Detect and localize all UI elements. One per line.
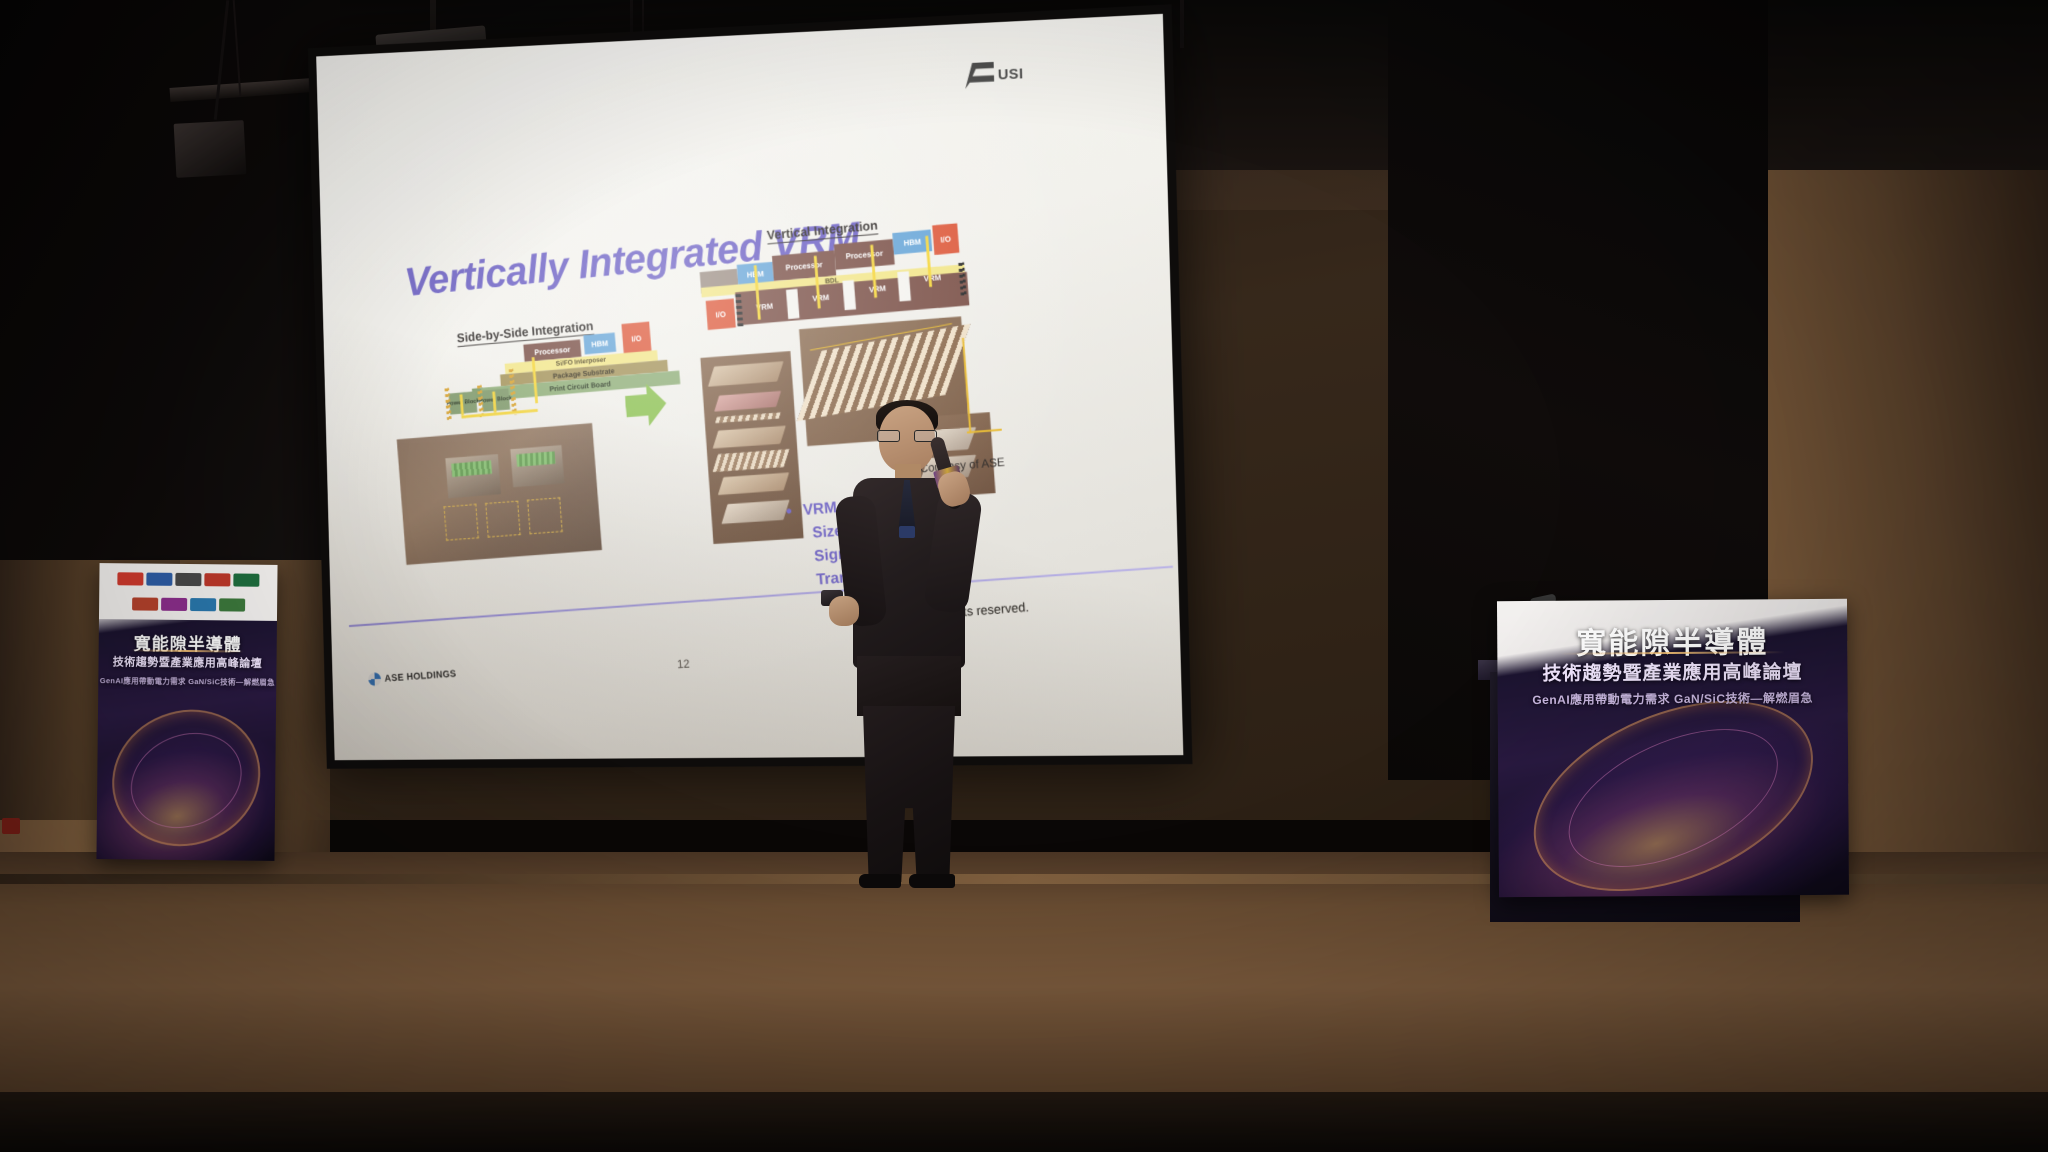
sponsor-logo-4 (204, 573, 230, 586)
vrm-gap (842, 280, 856, 310)
glasses-lens-left (877, 430, 900, 442)
sponsor-logo-6 (132, 598, 158, 611)
stack-layer (708, 361, 784, 386)
photo-highlight-box (485, 501, 520, 538)
block-vrm-4: VRM (911, 267, 955, 288)
block-processor-2: Processor (834, 239, 895, 270)
sponsor-logo-3 (175, 573, 201, 586)
presenter-legs (861, 706, 957, 882)
stack-layer (718, 472, 789, 495)
block-vrm-2: VRM (799, 287, 842, 308)
vrm-gap (786, 289, 800, 319)
stack-layer (721, 500, 789, 524)
sponsor-logo-9 (219, 599, 245, 612)
photo-highlight-box (527, 497, 563, 534)
banner-subtitle: 技術趨勢暨產業應用高峰論壇 (1497, 657, 1847, 686)
footer-divider (349, 566, 1173, 627)
ceiling-speaker (174, 120, 247, 178)
via-column (958, 262, 966, 296)
sponsor-logo-8 (190, 598, 216, 611)
block-io-right: I/O (932, 223, 959, 255)
usi-logo-text: USI (998, 65, 1024, 83)
event-banner-left: 寬能隙半導體 技術趨勢暨產業應用高峰論壇 GenAI應用帶動電力需求 GaN/S… (96, 563, 277, 861)
stack-layer (713, 426, 786, 449)
block-vrm-1: VRM (743, 296, 786, 317)
presenter-badge (899, 526, 915, 538)
slide-content: USI Vertically Integrated VRM Side-by-Si… (316, 14, 1183, 760)
sponsor-logo-strip (99, 563, 278, 621)
sponsor-logo-5 (233, 573, 259, 586)
banner-artwork: 寬能隙半導體 技術趨勢暨產業應用高峰論壇 GenAI應用帶動電力需求 GaN/S… (1497, 599, 1849, 897)
projected-slide: USI Vertically Integrated VRM Side-by-Si… (316, 14, 1183, 760)
presenter-left-hand (829, 596, 859, 626)
banner-artwork: 寬能隙半導體 技術趨勢暨產業應用高峰論壇 GenAI應用帶動電力需求 GaN/S… (96, 619, 277, 861)
banner-title: 寬能隙半導體 (99, 629, 277, 656)
stack-layer (714, 391, 781, 412)
page-number: 12 (677, 657, 690, 671)
banner-tagline: GenAI應用帶動電力需求 GaN/SiC技術—解燃眉急 (98, 675, 276, 688)
ase-mark-icon (368, 672, 382, 686)
block-vrm-3: VRM (856, 278, 899, 299)
event-banner-right: 寬能隙半導體 技術趨勢暨產業應用高峰論壇 GenAI應用帶動電力需求 GaN/S… (1497, 599, 1849, 897)
presenter-glasses (877, 430, 937, 442)
sponsor-logo-1 (117, 572, 143, 585)
stage-front-face (0, 1092, 2048, 1152)
usi-mark-icon (965, 62, 995, 89)
hanging-cable (1180, 0, 1184, 48)
sponsor-logo-7 (161, 598, 187, 611)
projection-screen: USI Vertically Integrated VRM Side-by-Si… (308, 4, 1193, 768)
presenter (835, 400, 985, 890)
block-hbm: HBM (583, 332, 616, 354)
exit-sign (2, 818, 20, 834)
auditorium-scene: USI Vertically Integrated VRM Side-by-Si… (0, 0, 2048, 1152)
stack-layer (715, 412, 781, 423)
sponsor-logo-2 (146, 572, 172, 585)
ase-holdings-logo: ASE HOLDINGS (368, 667, 457, 686)
banner-tagline: GenAI應用帶動電力需求 GaN/SiC技術—解燃眉急 (1498, 689, 1848, 708)
block-io-left: I/O (706, 298, 736, 330)
pcb-photo (397, 423, 602, 565)
vrm-gap (897, 271, 911, 301)
usi-logo: USI (964, 55, 1046, 92)
ase-logo-text: ASE HOLDINGS (384, 668, 457, 683)
photo-highlight-box (444, 504, 479, 541)
presenter-shoe-right (909, 874, 955, 888)
stack-layer (712, 449, 789, 472)
presenter-shoe-left (859, 874, 901, 888)
banner-subtitle: 技術趨勢暨產業應用高峰論壇 (98, 653, 276, 671)
